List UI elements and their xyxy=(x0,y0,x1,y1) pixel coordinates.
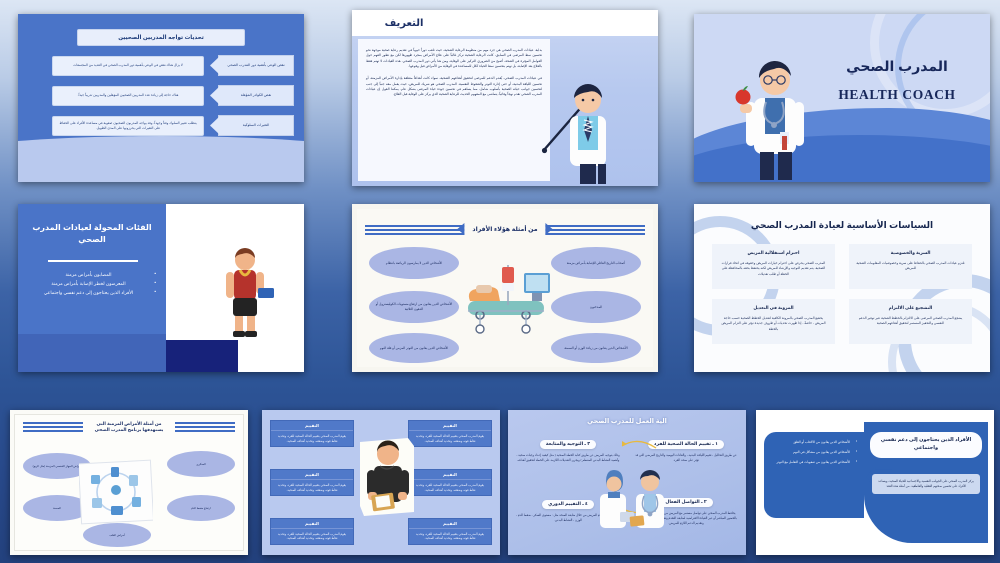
target-groups-list: المصابون بأمراض مزمنة المعرضون لخطر الإص… xyxy=(30,270,156,298)
cover-title-english: HEALTH COACH xyxy=(822,87,972,103)
slide-5-canvas: من أمثلة هؤلاء الأفراد أصحاب التاريخ الع… xyxy=(352,204,658,372)
slide-5-title: من أمثلة هؤلاء الأفراد xyxy=(464,223,545,236)
title-underline xyxy=(48,260,138,262)
challenge-description: يتطلب تغيير السلوك وقتاً وجهداً، وقد يوا… xyxy=(52,116,204,136)
evaluation-card: التقييم يقوم المدرب الصحي بتقييم الحالة … xyxy=(408,469,492,496)
hospital-bed-illustration xyxy=(452,261,564,335)
left-panel: الأشخاص الذين يعانون من الاكتئاب أو القل… xyxy=(764,432,864,518)
slide-thumbnail-8[interactable]: التقييم يقوم المدرب الصحي بتقييم الحالة … xyxy=(262,410,500,555)
slide-2-body: بداية، عيادات المدرب الصحي هي جزء مهم من… xyxy=(358,39,550,181)
slide-thumbnail-3[interactable]: المدرب الصحي HEALTH COACH xyxy=(694,14,990,182)
slide-thumbnail-1[interactable]: تحديات تواجه المدربين الصحيين لا يزال هن… xyxy=(18,14,304,182)
slide-1-canvas: تحديات تواجه المدربين الصحيين لا يزال هن… xyxy=(18,14,304,182)
trainer-illustration xyxy=(358,436,416,520)
slide-2-title: التعريف xyxy=(360,14,448,33)
list-item: المعرضون لخطر الإصابة بأمراض مزمنة xyxy=(30,279,156,288)
slide-sheet: من أمثلة هؤلاء الأفراد أصحاب التاريخ الع… xyxy=(357,209,653,367)
card-body: يقوم المدرب الصحي بتقييم الحالة الصحية ل… xyxy=(409,529,491,544)
slide-4-title: الفئات المحولة لعيادات المدرب الصحي xyxy=(32,222,152,246)
list-item: الأفراد الذين يحتاجون إلى دعم نفسي واجتم… xyxy=(30,288,156,297)
disease-oval: السكري xyxy=(167,451,235,477)
evaluation-card: التقييم يقوم المدرب الصحي بتقييم الحالة … xyxy=(270,469,354,496)
step-block: ٣ ـ التوجيه والمتابعة وذلك بتوجيه المريض… xyxy=(516,432,620,463)
title-band: من أمثلة هؤلاء الأفراد xyxy=(365,223,645,236)
example-oval: الأشخاص الذين يعانون من ارتفاع مستويات ا… xyxy=(369,291,459,323)
decorative-wave xyxy=(18,136,304,182)
paragraph: في عيادات المدرب الصحي، يُقدم الدعم للمر… xyxy=(366,76,542,97)
cover-titles: المدرب الصحي HEALTH COACH xyxy=(822,58,972,103)
support-list: الأشخاص الذين يعانون من الاكتئاب أو القل… xyxy=(771,440,857,465)
policy-heading: احترام استقلالية المريض xyxy=(719,250,828,256)
example-oval: المدخنون xyxy=(551,291,641,323)
list-item: المصابون بأمراض مزمنة xyxy=(30,270,156,279)
card-heading: التقييم xyxy=(271,421,353,431)
policy-text: المدرب الصحي يحرص على احترام خيارات المر… xyxy=(719,261,828,277)
slide-sheet: من أمثلة الأمراض المزمنة التي يستهدفها ب… xyxy=(14,414,244,551)
slide-thumbnail-2[interactable]: التعريف بداية، عيادات المدرب الصحي هي جز… xyxy=(352,10,658,186)
slide-thumbnail-9[interactable]: الية العمل للمدرب الصحي ١ ـ تقييم الحالة… xyxy=(508,410,746,555)
slide-10-canvas: الأفراد الذين يحتاجون إلى دعم نفسي واجتم… xyxy=(756,410,994,555)
slide-1-title: تحديات تواجه المدربين الصحيين xyxy=(77,29,245,46)
title-band: من أمثلة الأمراض المزمنة التي يستهدفها ب… xyxy=(21,421,237,443)
step-label: ٣ ـ التوجيه والمتابعة xyxy=(540,440,596,449)
example-oval: الأشخاص الذين يعانون من التوتر المزمن أو… xyxy=(369,333,459,363)
list-item: الأشخاص الذين يعانون من الاكتئاب أو القل… xyxy=(771,440,857,445)
policy-cell: المرونة في التعديل يخضع المدرب الصحي بال… xyxy=(712,299,835,344)
navy-accent-block xyxy=(166,340,238,372)
card-body: يقوم المدرب الصحي بتقييم الحالة الصحية ل… xyxy=(271,431,353,446)
slide-6-title: السياسات الأساسية لعيادة المدرب الصحي xyxy=(694,220,990,231)
slide-2-canvas: التعريف بداية، عيادات المدرب الصحي هي جز… xyxy=(352,10,658,186)
policy-text: تلتزم عيادات المدرب الصحي بالحفاظ على سر… xyxy=(856,261,965,272)
challenge-label: التغيرات السلوكية xyxy=(218,115,294,136)
card-body: يقوم المدرب الصحي بتقييم الحالة الصحية ل… xyxy=(271,529,353,544)
left-footer-strip xyxy=(18,334,166,372)
challenge-row: يتطلب تغيير السلوك وقتاً وجهداً، وقد يوا… xyxy=(24,115,298,136)
evaluation-column-right: التقييم يقوم المدرب الصحي بتقييم الحالة … xyxy=(408,420,492,545)
slide-7-title: من أمثلة الأمراض المزمنة التي يستهدفها ب… xyxy=(83,421,175,434)
slide-8-canvas: التقييم يقوم المدرب الصحي بتقييم الحالة … xyxy=(262,410,500,555)
slide-7-canvas: من أمثلة الأمراض المزمنة التي يستهدفها ب… xyxy=(10,410,248,555)
challenge-row: لا يزال هناك نقص في الوعي بأهمية دور الم… xyxy=(24,55,298,76)
policy-grid: احترام استقلالية المريض المدرب الصحي يحر… xyxy=(712,244,972,344)
doctor-illustration xyxy=(720,40,828,180)
slide-thumbnail-6[interactable]: السياسات الأساسية لعيادة المدرب الصحي اح… xyxy=(694,204,990,372)
card-heading: التقييم xyxy=(409,421,491,431)
evaluation-card: التقييم يقوم المدرب الصحي بتقييم الحالة … xyxy=(408,518,492,545)
list-item: الأشخاص الذين يعانون من مشاكل في النوم xyxy=(771,450,857,455)
challenge-label: نقص الكوادر المؤهلة xyxy=(218,85,294,106)
slide-1-rows: لا يزال هناك نقص في الوعي بأهمية دور الم… xyxy=(24,55,298,136)
step-text: وذلك بتوجيه المريض عن طريق كتابة الخطة ا… xyxy=(516,453,620,463)
health-infographic-illustration xyxy=(79,459,153,525)
cover-title-arabic: المدرب الصحي xyxy=(822,58,972,75)
slide-4-canvas: الفئات المحولة لعيادات المدرب الصحي المص… xyxy=(18,204,304,372)
step-label: ١ ـ تقييم الحالة الصحية للفرد xyxy=(648,440,724,449)
policy-cell: السرية والخصوصية تلتزم عيادات المدرب الص… xyxy=(849,244,972,289)
slide-10-heading: الأفراد الذين يحتاجون إلى دعم نفسي واجتم… xyxy=(870,432,982,458)
evaluation-card: التقييم يقوم المدرب الصحي بتقييم الحالة … xyxy=(270,518,354,545)
challenge-description: هناك حاجة إلى زيادة عدد المدربين الصحيين… xyxy=(52,86,204,106)
evaluation-card: التقييم يقوم المدرب الصحي بتقييم الحالة … xyxy=(270,420,354,447)
step-label: ٤ ـ التقييم الدوري xyxy=(542,500,594,509)
athlete-illustration xyxy=(214,244,276,340)
slide-thumbnail-10[interactable]: الأفراد الذين يحتاجون إلى دعم نفسي واجتم… xyxy=(756,410,994,555)
slide-thumbnail-4[interactable]: الفئات المحولة لعيادات المدرب الصحي المص… xyxy=(18,204,304,372)
evaluation-column-left: التقييم يقوم المدرب الصحي بتقييم الحالة … xyxy=(270,420,354,545)
challenge-label: نقص الوعي بأهمية دور المدرب الصحي xyxy=(218,55,294,76)
example-oval: أصحاب التاريخ العائلي للإصابة بأمراض مزم… xyxy=(551,247,641,279)
example-oval: الأشخاص الذين لا يمارسون الرياضة بانتظام xyxy=(369,247,459,279)
list-item: الأشخاص الذين يعانون من صعوبات في التعام… xyxy=(771,460,857,465)
card-heading: التقييم xyxy=(409,519,491,529)
card-heading: التقييم xyxy=(271,470,353,480)
challenge-row: هناك حاجة إلى زيادة عدد المدربين الصحيين… xyxy=(24,85,298,106)
step-text: عن طريق التحاليل ، تقييم اللياقة البدنية… xyxy=(634,453,738,463)
policy-text: يشجع المدرب الصحي المرضى على الالتزام با… xyxy=(856,316,965,327)
policy-text: يخضع المدرب الصحي بالمرونة الكافية لتعدي… xyxy=(719,316,828,332)
slide-9-canvas: الية العمل للمدرب الصحي ١ ـ تقييم الحالة… xyxy=(508,410,746,555)
evaluation-card: التقييم يقوم المدرب الصحي بتقييم الحالة … xyxy=(408,420,492,447)
card-body: يقوم المدرب الصحي بتقييم الحالة الصحية ل… xyxy=(409,480,491,495)
policy-cell: احترام استقلالية المريض المدرب الصحي يحر… xyxy=(712,244,835,289)
card-body: يقوم المدرب الصحي بتقييم الحالة الصحية ل… xyxy=(271,480,353,495)
slide-10-subtext: يركز المدرب الصحي على الجوانب النفسية وا… xyxy=(872,474,980,494)
medical-pair-illustration xyxy=(594,466,670,536)
slide-9-title: الية العمل للمدرب الصحي xyxy=(508,417,746,425)
example-oval: الأشخاص الذين يعانون من زيادة الوزن أو ا… xyxy=(551,333,641,363)
card-heading: التقييم xyxy=(271,519,353,529)
slide-thumbnail-7[interactable]: من أمثلة الأمراض المزمنة التي يستهدفها ب… xyxy=(10,410,248,555)
disease-oval: ارتفاع ضغط الدم xyxy=(167,495,235,521)
card-body: يقوم المدرب الصحي بتقييم الحالة الصحية ل… xyxy=(409,431,491,446)
flow-arrow-icon xyxy=(616,436,658,452)
slide-3-canvas: المدرب الصحي HEALTH COACH xyxy=(694,14,990,182)
policy-heading: المرونة في التعديل xyxy=(719,305,828,311)
policy-heading: التشجيع على الالتزام xyxy=(856,305,965,311)
disease-oval: أمراض القلب xyxy=(83,523,151,547)
slide-thumbnail-5[interactable]: من أمثلة هؤلاء الأفراد أصحاب التاريخ الع… xyxy=(352,204,658,372)
paragraph: بداية، عيادات المدرب الصحي هي جزء مهم من… xyxy=(366,48,542,69)
slide-6-canvas: السياسات الأساسية لعيادة المدرب الصحي اح… xyxy=(694,204,990,372)
policy-heading: السرية والخصوصية xyxy=(856,250,965,256)
challenge-description: لا يزال هناك نقص في الوعي بأهمية دور الم… xyxy=(52,56,204,76)
teacher-illustration xyxy=(540,64,636,184)
card-heading: التقييم xyxy=(409,470,491,480)
policy-cell: التشجيع على الالتزام يشجع المدرب الصحي ا… xyxy=(849,299,972,344)
